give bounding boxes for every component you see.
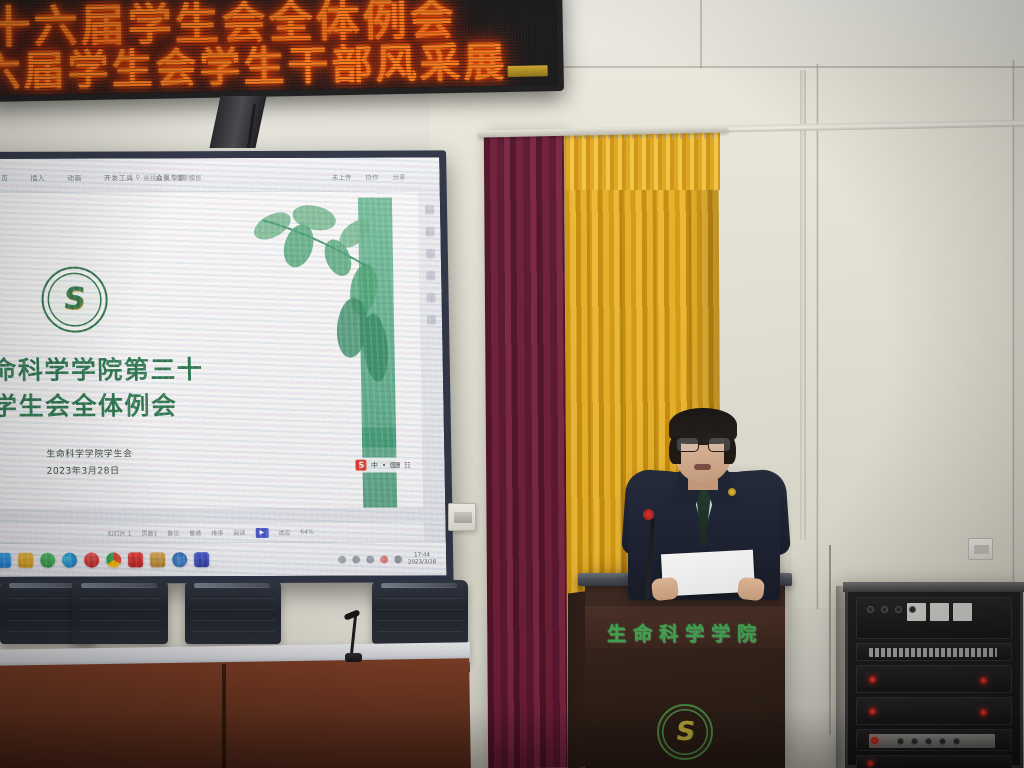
status-notes-button[interactable]: 备注 [167, 528, 179, 537]
volume-icon[interactable] [366, 555, 374, 563]
slide-title-line-1: 生命科学学院第三十 [0, 352, 295, 389]
ime-mode-label[interactable]: 中 [371, 460, 378, 470]
mail-icon[interactable] [0, 553, 11, 568]
rail-icon-export[interactable] [426, 315, 435, 324]
ribbon-tab-home[interactable]: 首页 [0, 174, 8, 184]
rail-icon-image[interactable] [425, 249, 434, 258]
slide-organizer: 生命科学学院学生会 [46, 446, 133, 463]
mixer-led [871, 737, 878, 744]
slide-title-line-2: 届学生会全体例会 [0, 388, 296, 425]
wall-corner-edge [816, 64, 819, 609]
rack-connector-row [867, 606, 916, 613]
chair [185, 580, 281, 644]
mixer-knob-row [897, 738, 960, 745]
rack-connector [895, 606, 902, 613]
podium-nameplate-text: 生命科学学院 [585, 619, 785, 646]
clock-date: 2023/3/28 [408, 559, 436, 565]
sogou-icon: S [356, 460, 367, 471]
edge-icon[interactable] [62, 553, 77, 568]
college-emblem-podium: S [657, 704, 713, 760]
lens-left [676, 437, 699, 452]
rack-connector [881, 606, 888, 613]
zoom-level[interactable]: 64% [300, 529, 313, 536]
system-tray: 17:44 2023/3/28 [338, 552, 440, 566]
lapel-pin [728, 488, 736, 496]
college-logo-slide: S [41, 267, 108, 333]
projection-screen: 首页 插入 动画 开发工具 会员专享 ⚲ 查找命令、搜索模板 未上传 协作 分享 [0, 150, 454, 584]
hanging-cable [829, 545, 831, 735]
ceiling-seam [700, 0, 702, 68]
powerpoint-icon[interactable] [194, 552, 209, 567]
slide-title: 生命科学学院第三十 届学生会全体例会 [0, 352, 296, 426]
opera-icon[interactable] [84, 553, 99, 568]
rack-module-blocks [907, 603, 972, 621]
rack-module [930, 603, 949, 621]
rack-status-led [980, 677, 987, 684]
patch-panel-ports [869, 648, 997, 657]
av-equipment-rack [845, 586, 1023, 768]
ime-toolbox-icon[interactable]: ☷ [404, 461, 410, 469]
logo-letter: S [62, 285, 87, 315]
gold-curtain-header [566, 132, 720, 190]
rack-power-led [869, 708, 876, 715]
ime-floating-bar[interactable]: S 中 • ⌨ ☷ [352, 457, 415, 472]
search-placeholder: 查找命令、搜索模板 [143, 172, 202, 182]
folder-icon[interactable] [18, 553, 33, 568]
rack-top-plate [843, 582, 1024, 592]
ribbon-tab-animation[interactable]: 动画 [67, 174, 82, 184]
chair [72, 580, 168, 644]
wps-icon[interactable] [128, 552, 143, 567]
rack-unit-amp-2 [856, 697, 1012, 725]
chair-highlight [194, 583, 270, 588]
wps-status-bar: 幻灯片 1 页面1 备注 普通 排序 阅读 ▶ 适应 64% [0, 521, 424, 543]
hand-right [737, 577, 765, 602]
rack-unit-patchbay [856, 643, 1012, 661]
windows-taskbar: 17:44 2023/3/28 [0, 541, 446, 577]
wall-outlet [968, 538, 993, 560]
slide-date: 2023年3月28日 [46, 464, 133, 481]
rack-unit-mixer [856, 729, 1012, 751]
ribbon-tab-insert[interactable]: 插入 [30, 174, 45, 184]
right-tool-rail [420, 195, 443, 505]
maroon-curtain [484, 134, 568, 768]
play-slideshow-button[interactable]: ▶ [255, 527, 268, 537]
rail-icon-resize[interactable] [425, 227, 434, 236]
mouth [694, 464, 711, 470]
mixer-knob [953, 738, 960, 745]
ime-punct-icon[interactable]: • [382, 461, 386, 469]
ribbon-tab-devtools[interactable]: 开发工具 [104, 173, 134, 183]
collaborate-button[interactable]: 协作 [365, 172, 378, 182]
conference-table-front [0, 658, 471, 768]
notes-icon[interactable] [150, 552, 165, 567]
share-button[interactable]: 分享 [392, 171, 405, 181]
ribbon-search-box[interactable]: ⚲ 查找命令、搜索模板 [135, 172, 201, 182]
view-normal-button[interactable]: 普通 [189, 528, 201, 537]
led-brand-label [508, 65, 548, 77]
rack-unit-bottom [856, 755, 1012, 768]
view-sorter-button[interactable]: 排序 [211, 528, 223, 537]
rail-icon-design[interactable] [425, 205, 434, 214]
battery-icon[interactable] [394, 555, 402, 563]
mixer-knob [939, 738, 946, 745]
rack-connector [867, 606, 874, 613]
upload-status-button[interactable]: 未上传 [332, 172, 352, 182]
hand-left [651, 577, 679, 602]
mixer-knob [897, 738, 904, 745]
led-banner-line-2: 六届学生会学生干部风采展 [0, 27, 544, 98]
chrome-icon[interactable] [106, 552, 121, 567]
search-icon: ⚲ [135, 173, 140, 181]
led-banner: 十六届学生会全体例会 六届学生会学生干部风采展 [0, 0, 564, 102]
view-reading-button[interactable]: 阅读 [233, 528, 245, 537]
table-panel-seam [222, 664, 226, 768]
status-slide-count: 幻灯片 1 [108, 528, 132, 537]
rack-module [953, 603, 972, 621]
eyeglasses [675, 437, 732, 452]
mixer-knob [925, 738, 932, 745]
rack-unit-amp-1 [856, 665, 1012, 693]
taskbar-clock[interactable]: 17:44 2023/3/28 [408, 552, 436, 566]
presenting-student [620, 380, 790, 600]
settings-icon[interactable] [172, 552, 187, 567]
rail-icon-gear[interactable] [426, 293, 435, 302]
conference-hall-photo: 十六届学生会全体例会 六届学生会学生干部风采展 首页 插入 动画 开发工具 会员… [0, 0, 1024, 768]
browser-icon[interactable] [40, 553, 55, 568]
wall-corner-edge [1012, 60, 1015, 620]
rack-unit-patch [856, 597, 1012, 639]
glasses-bridge [699, 443, 708, 445]
slide-subtitle-block: 生命科学学院学生会 2023年3月28日 [46, 446, 133, 480]
screen-display-area: 首页 插入 动画 开发工具 会员专享 ⚲ 查找命令、搜索模板 未上传 协作 分享 [0, 157, 446, 577]
ribbon-right-actions: 未上传 协作 分享 [332, 171, 406, 181]
fit-to-window-button[interactable]: 适应 [278, 528, 290, 537]
network-icon[interactable] [352, 555, 360, 563]
rail-icon-shape[interactable] [426, 271, 435, 280]
rack-status-led [980, 709, 987, 716]
clock-time: 17:44 [414, 552, 430, 558]
status-layout[interactable]: 页面1 [141, 528, 157, 537]
rack-power-led [869, 676, 876, 683]
table-microphone-base [345, 653, 362, 662]
chair [372, 580, 468, 644]
ime-tray-icon[interactable] [380, 555, 388, 563]
rack-power-led [867, 760, 874, 767]
rack-connector [909, 606, 916, 613]
chair-highlight [381, 583, 457, 588]
emblem-letter: S [674, 717, 697, 747]
chair-highlight [81, 583, 157, 588]
electrical-conduit [800, 70, 806, 540]
ime-keyboard-icon[interactable]: ⌨ [390, 461, 400, 469]
mixer-knob [911, 738, 918, 745]
lens-right [708, 437, 731, 452]
chevron-up-icon[interactable] [338, 555, 346, 563]
wall-control-panel[interactable] [448, 503, 476, 531]
podium-microphone-head [643, 509, 654, 520]
